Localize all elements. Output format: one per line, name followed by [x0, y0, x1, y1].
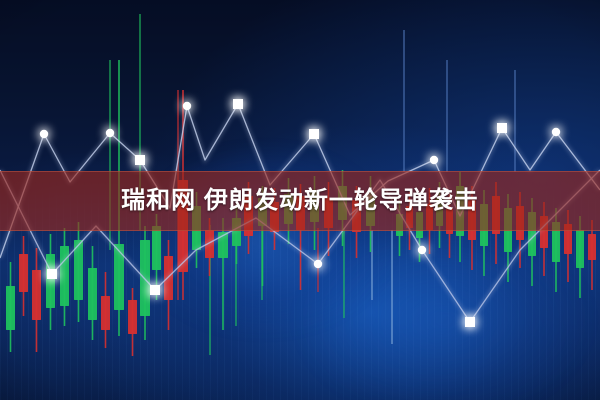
headline-band: 瑞和网 伊朗发动新一轮导弹袭击	[0, 171, 600, 231]
news-banner-image: 瑞和网 伊朗发动新一轮导弹袭击	[0, 0, 600, 400]
headline-text: 瑞和网 伊朗发动新一轮导弹袭击	[121, 189, 479, 213]
